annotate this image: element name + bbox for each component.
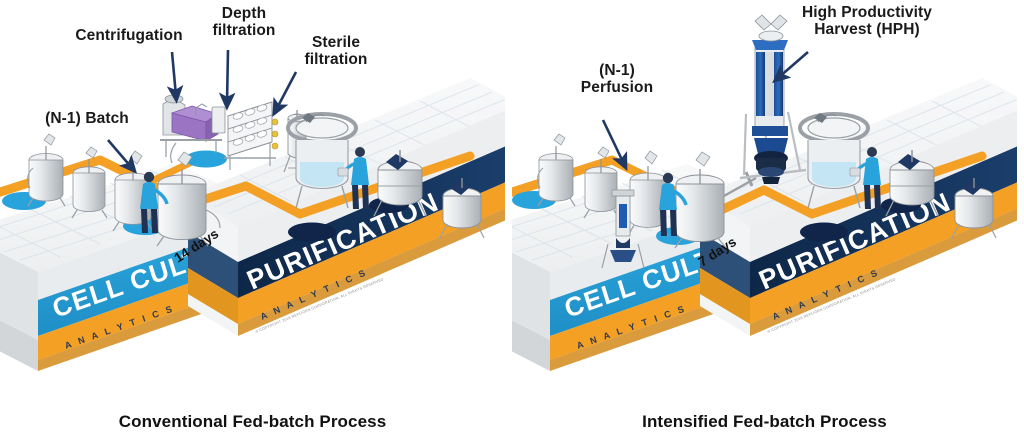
arrow-hph [778,52,808,78]
callout-arrows [512,0,1017,400]
arrow-centrifugation [172,52,176,96]
arrow-n1-batch [108,140,132,168]
panel-caption-intensified: Intensified Fed-batch Process [512,412,1017,432]
panel-intensified: CELL CULTURE A N A L Y T I C S [512,0,1017,438]
arrow-sterile-filtration [276,72,296,110]
panel-caption-conventional: Conventional Fed-batch Process [0,412,505,432]
figure-canvas: CELL CULTURE A N A L Y T I C S [0,0,1024,438]
panel-conventional: CELL CULTURE A N A L Y T I C S [0,0,505,438]
arrow-depth-filtration [227,50,228,103]
callout-arrows [0,0,505,400]
arrow-n1-perfusion [603,120,624,164]
